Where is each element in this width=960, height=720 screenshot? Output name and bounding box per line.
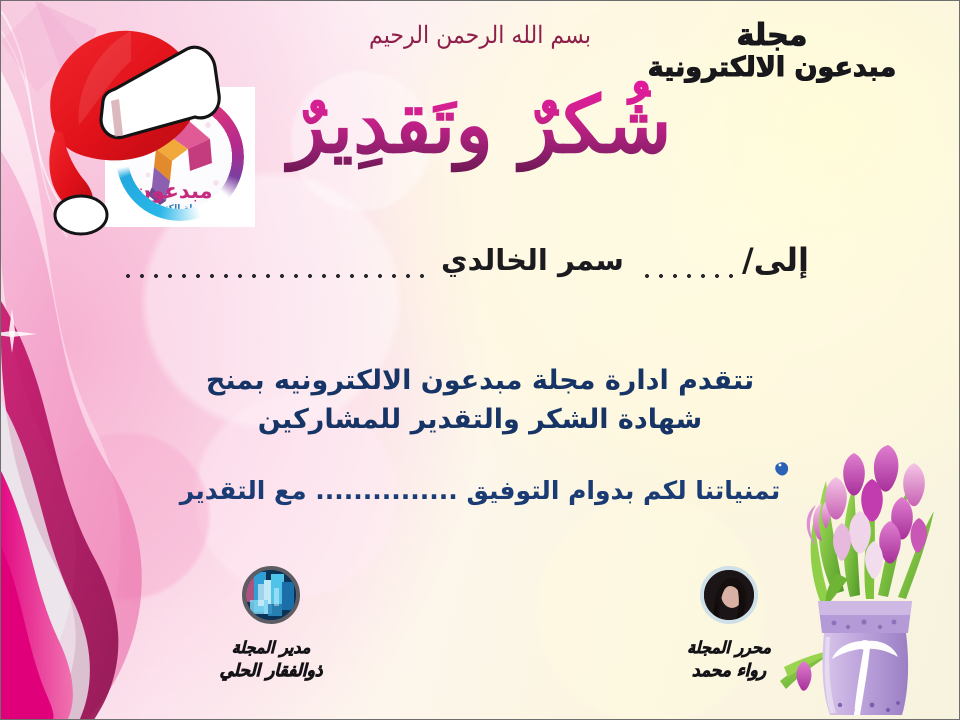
editor-role: محرر المجلة [609,638,849,657]
signature-editor: محرر المجلة رواء محمد [609,566,849,681]
editor-avatar [700,566,758,624]
magazine-title: مجلة مبدعون الالكترونية [607,19,937,83]
director-role: مدير المجلة [151,638,391,657]
certificate-wishes: تمنياتنا لكم بدوام التوفيق .............… [1,476,959,505]
female-portrait-avatar-icon [702,570,754,622]
magazine-title-line1: مجلة [607,19,937,53]
editor-name: رواء محمد [609,661,849,681]
recipient-label: إلى/ [742,241,809,279]
recipient-dots-short [640,249,736,279]
director-avatar [242,566,300,624]
recipient-dots-long [121,249,425,279]
certificate-body: تتقدم ادارة مجلة مبدعون الالكترونيه بمنح… [1,361,959,439]
certificate-body-line1: تتقدم ادارة مجلة مبدعون الالكترونيه بمنح [1,361,959,400]
abstract-blue-avatar-icon [244,570,296,622]
bird-icon [775,462,788,475]
signature-director: مدير المجلة ذوالفقار الحلي [151,566,391,681]
logo-subtitle: مجلة الكترونية [128,204,218,209]
director-name: ذوالفقار الحلي [151,661,391,681]
sparkle-icon [1,309,37,353]
recipient-name: سمر الخالدي [431,243,634,279]
certificate-canvas: بسم الله الرحمن الرحيم مجلة مبدعون الالك… [0,0,960,720]
recipient-line: إلى/ سمر الخالدي [121,241,809,279]
logo-word: مبدعون [128,179,218,203]
magazine-logo: مبدعون مجلة الكترونية [105,87,255,227]
certificate-body-line2: شهادة الشكر والتقدير للمشاركين [1,400,959,439]
logo-inner-disc: مبدعون مجلة الكترونية [128,105,232,209]
